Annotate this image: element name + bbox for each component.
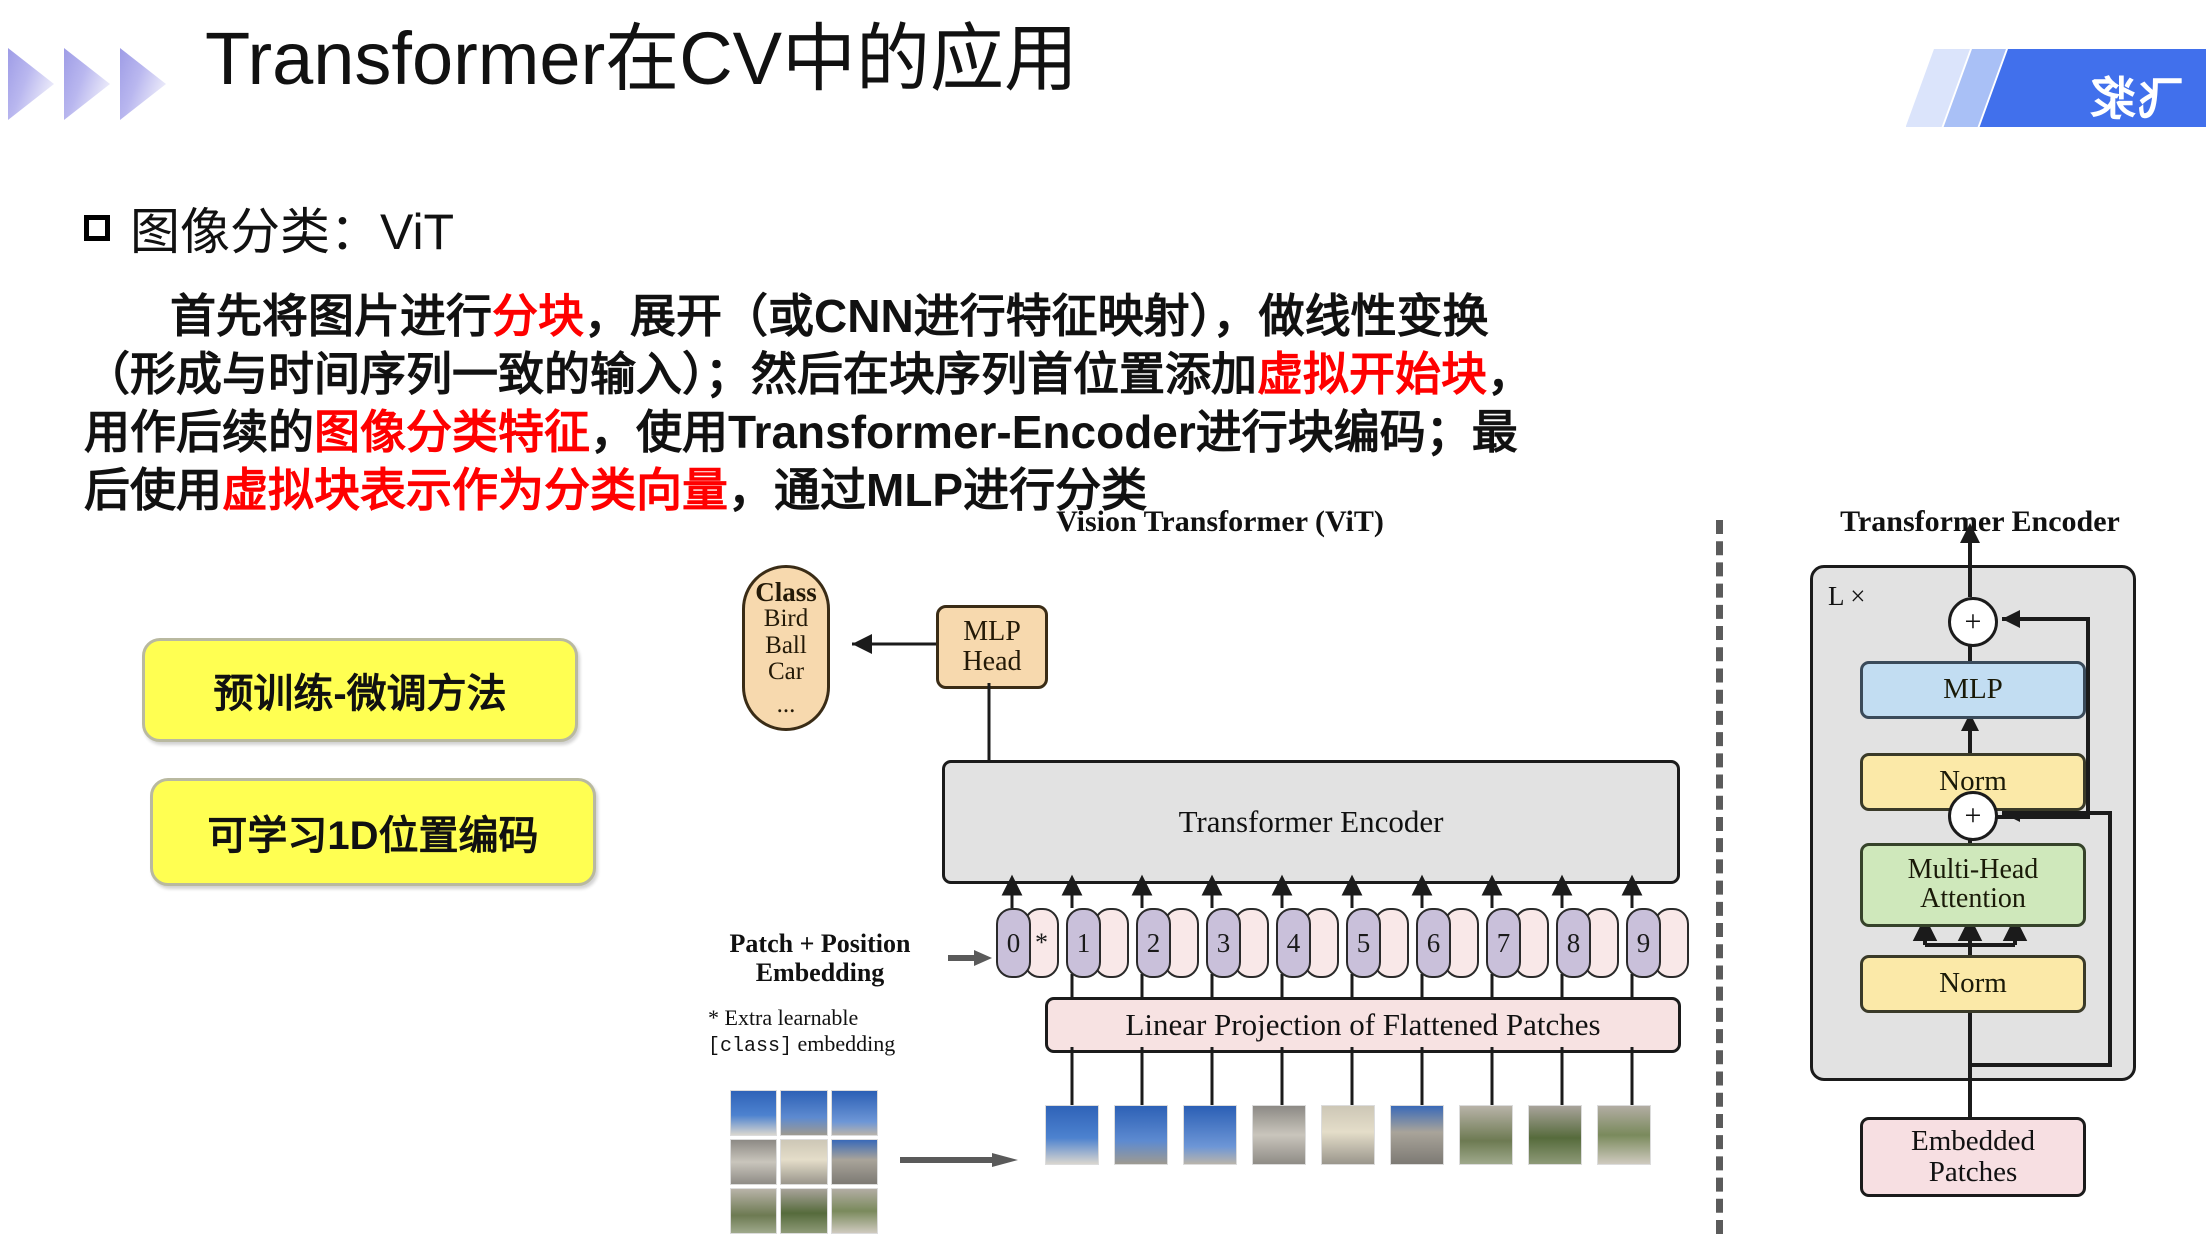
- footnote-line1: * Extra learnable: [708, 1005, 948, 1031]
- position-embedding-token: 4: [1276, 908, 1339, 978]
- page-title: Transformer在CV中的应用: [205, 22, 1078, 96]
- flattened-patch: [1390, 1105, 1444, 1165]
- image-patch: [730, 1090, 777, 1136]
- position-embedding-token: 7: [1486, 908, 1549, 978]
- image-patch-grid: [730, 1090, 878, 1234]
- header-arrow-group: [8, 48, 166, 120]
- encoder-add-node-top: +: [1948, 597, 1998, 647]
- token-index-label: 1: [1066, 908, 1101, 978]
- transformer-encoder-bar: Transformer Encoder: [942, 760, 1680, 884]
- image-patch: [831, 1139, 878, 1185]
- token-index-label: 3: [1206, 908, 1241, 978]
- position-embedding-token: 1: [1066, 908, 1129, 978]
- image-patch: [831, 1090, 878, 1136]
- image-patch: [831, 1188, 878, 1234]
- body-paragraph: 首先将图片进行分块，展开（或CNN进行特征映射），做线性变换（形成与时间序列一致…: [84, 288, 1554, 520]
- class-token-code: [class]: [708, 1035, 792, 1058]
- embedded-patches-line1: Embedded: [1911, 1126, 2035, 1157]
- token-index-label: 8: [1556, 908, 1591, 978]
- chevron-right-icon: [64, 48, 110, 120]
- encoder-block-norm-bottom: Norm: [1860, 955, 2086, 1013]
- position-embedding-token: 5: [1346, 908, 1409, 978]
- footnote-line2-rest: embedding: [792, 1031, 895, 1056]
- mlp-head-line1: MLP: [963, 617, 1021, 647]
- linear-projection-bar: Linear Projection of Flattened Patches: [1045, 997, 1681, 1053]
- mlp-head-box: MLP Head: [936, 605, 1048, 689]
- position-embedding-token: 2: [1136, 908, 1199, 978]
- image-patch: [780, 1188, 827, 1234]
- callout-pretrain-finetune[interactable]: 预训练-微调方法: [142, 638, 578, 742]
- mha-line1: Multi-Head: [1908, 856, 2039, 885]
- class-item: Bird: [764, 606, 808, 632]
- token-index-label: 4: [1276, 908, 1311, 978]
- flattened-patch: [1528, 1105, 1582, 1165]
- panel-divider: [1716, 520, 1723, 1234]
- embedded-patches-line2: Patches: [1929, 1157, 2018, 1188]
- flattened-patch: [1459, 1105, 1513, 1165]
- token-index-label: 6: [1416, 908, 1451, 978]
- patch-position-embedding-label: Patch + Position Embedding: [700, 930, 940, 987]
- paragraph-highlight: 分块: [492, 290, 584, 342]
- image-patch: [730, 1188, 777, 1234]
- token-index-label: 0: [996, 908, 1031, 978]
- flattened-patch: [1252, 1105, 1306, 1165]
- encoder-add-node-bottom: +: [1948, 791, 1998, 841]
- position-embedding-token: 3: [1206, 908, 1269, 978]
- encoder-repeat-label: L ×: [1828, 581, 1865, 612]
- image-patch: [730, 1139, 777, 1185]
- section-heading-row: 图像分类：ViT: [84, 192, 454, 264]
- paragraph-highlight: 虚拟开始块: [1257, 348, 1487, 400]
- transformer-encoder-panel: Transformer Encoder L ×: [1770, 505, 2206, 1234]
- paragraph-highlight: 图像分类特征: [314, 406, 590, 458]
- class-item: Ball: [765, 633, 807, 659]
- position-embedding-token: 8: [1556, 908, 1619, 978]
- vit-figure: Vision Transformer (ViT) Class Bird Ball…: [700, 505, 1710, 1234]
- token-index-label: 7: [1486, 908, 1521, 978]
- class-box-title: Class: [755, 578, 817, 606]
- flatten-arrow-icon: [900, 1153, 1018, 1167]
- paragraph-highlight: 虚拟块表示作为分类向量: [222, 464, 728, 516]
- paragraph-text: 首先将图片进行分块，展开（或CNN进行特征映射），做线性变换（形成与时间序列一致…: [84, 290, 1533, 516]
- pp-line1: Patch + Position: [700, 930, 940, 959]
- flattened-patch: [1321, 1105, 1375, 1165]
- figure-title: Vision Transformer (ViT): [940, 505, 1500, 539]
- brand-logo: 飞浆: [1906, 49, 2206, 127]
- patch-position-arrow-icon: [948, 950, 992, 966]
- position-embedding-token: 6: [1416, 908, 1479, 978]
- token-index-label: 9: [1626, 908, 1661, 978]
- extra-learnable-footnote: * Extra learnable [class] embedding: [708, 1005, 948, 1059]
- square-bullet-icon: [84, 215, 110, 241]
- logo-wordmark: 飞浆: [2088, 63, 2184, 127]
- class-item: Car: [768, 659, 804, 685]
- flattened-patch-strip: [1045, 1105, 1651, 1165]
- mha-line2: Attention: [1920, 885, 2026, 914]
- encoder-block-multi-head-attention: Multi-Head Attention: [1860, 843, 2086, 927]
- flattened-patch: [1183, 1105, 1237, 1165]
- encoder-block-mlp: MLP: [1860, 661, 2086, 719]
- paragraph-span: 首先将图片进行: [170, 290, 492, 342]
- image-patch: [780, 1090, 827, 1136]
- embedded-patches-box: Embedded Patches: [1860, 1117, 2086, 1197]
- chevron-right-icon: [120, 48, 166, 120]
- class-ellipsis: ...: [777, 691, 796, 719]
- class-output-box: Class Bird Ball Car ...: [742, 565, 830, 731]
- flattened-patch: [1045, 1105, 1099, 1165]
- token-index-label: 2: [1136, 908, 1171, 978]
- flattened-patch: [1597, 1105, 1651, 1165]
- encoder-panel-title: Transformer Encoder: [1770, 505, 2190, 539]
- pp-line2: Embedding: [700, 959, 940, 988]
- position-embedding-token: 0*: [996, 908, 1059, 978]
- callout-learnable-1d-pos-encoding[interactable]: 可学习1D位置编码: [150, 778, 596, 886]
- flattened-patch: [1114, 1105, 1168, 1165]
- section-heading: 图像分类：ViT: [130, 192, 454, 264]
- footnote-line2: [class] embedding: [708, 1031, 948, 1059]
- position-embedding-token: 9: [1626, 908, 1689, 978]
- mlp-head-line2: Head: [962, 647, 1021, 677]
- image-patch: [780, 1139, 827, 1185]
- token-index-label: 5: [1346, 908, 1381, 978]
- chevron-right-icon: [8, 48, 54, 120]
